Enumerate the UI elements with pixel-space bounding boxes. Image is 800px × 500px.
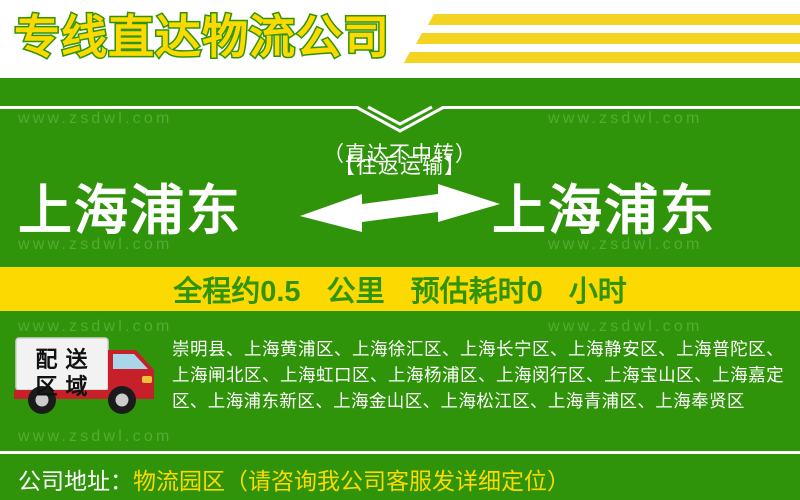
footer: 公司地址： 物流园区（请咨询我公司客服发详细定位） [0, 458, 800, 500]
metrics-bar: 全程约0.5 公里 预估耗时0 小时 [0, 267, 800, 311]
double-arrow-icon [300, 182, 500, 238]
stripe-2 [416, 33, 800, 44]
distance-unit: 公里 [327, 268, 385, 310]
section-divider [0, 106, 800, 132]
route-row: 上海浦东 上海浦东 [0, 170, 800, 260]
stripe-3 [404, 52, 800, 63]
destination-city: 上海浦东 [492, 170, 782, 252]
distance-value: 全程约0.5 [173, 268, 300, 310]
chevron-down-icon [352, 105, 448, 135]
truck-label-line1: 配 送 [25, 346, 99, 373]
duration-unit: 小时 [569, 268, 627, 310]
stripe-1 [428, 14, 800, 25]
divider-line-right [442, 106, 800, 109]
poster-body: www.zsdwl.com www.zsdwl.com www.zsdwl.co… [0, 78, 800, 500]
footer-divider [0, 451, 800, 454]
logistics-poster: 专线直达物流公司 www.zsdwl.com www.zsdwl.com www… [0, 0, 800, 500]
divider-line-left [0, 106, 358, 109]
roundtrip-note: 【往返运输】 [300, 150, 500, 180]
coverage-districts: 崇明县、上海黄浦区、上海徐汇区、上海长宁区、上海静安区、上海普陀区、上海闸北区、… [172, 336, 784, 414]
watermark: www.zsdwl.com [548, 318, 703, 336]
poster-header: 专线直达物流公司 [0, 0, 800, 78]
truck-label-line2: 区 域 [25, 373, 99, 400]
origin-city: 上海浦东 [18, 170, 308, 252]
decorative-stripes [418, 14, 800, 70]
company-title: 专线直达物流公司 [14, 6, 390, 68]
address-label: 公司地址： [18, 462, 133, 496]
truck-label: 配 送 区 域 [25, 346, 99, 402]
duration-value: 预估耗时0 [411, 268, 543, 310]
address-value: 物流园区（请咨询我公司客服发详细定位） [133, 462, 570, 496]
watermark: www.zsdwl.com [18, 428, 173, 446]
